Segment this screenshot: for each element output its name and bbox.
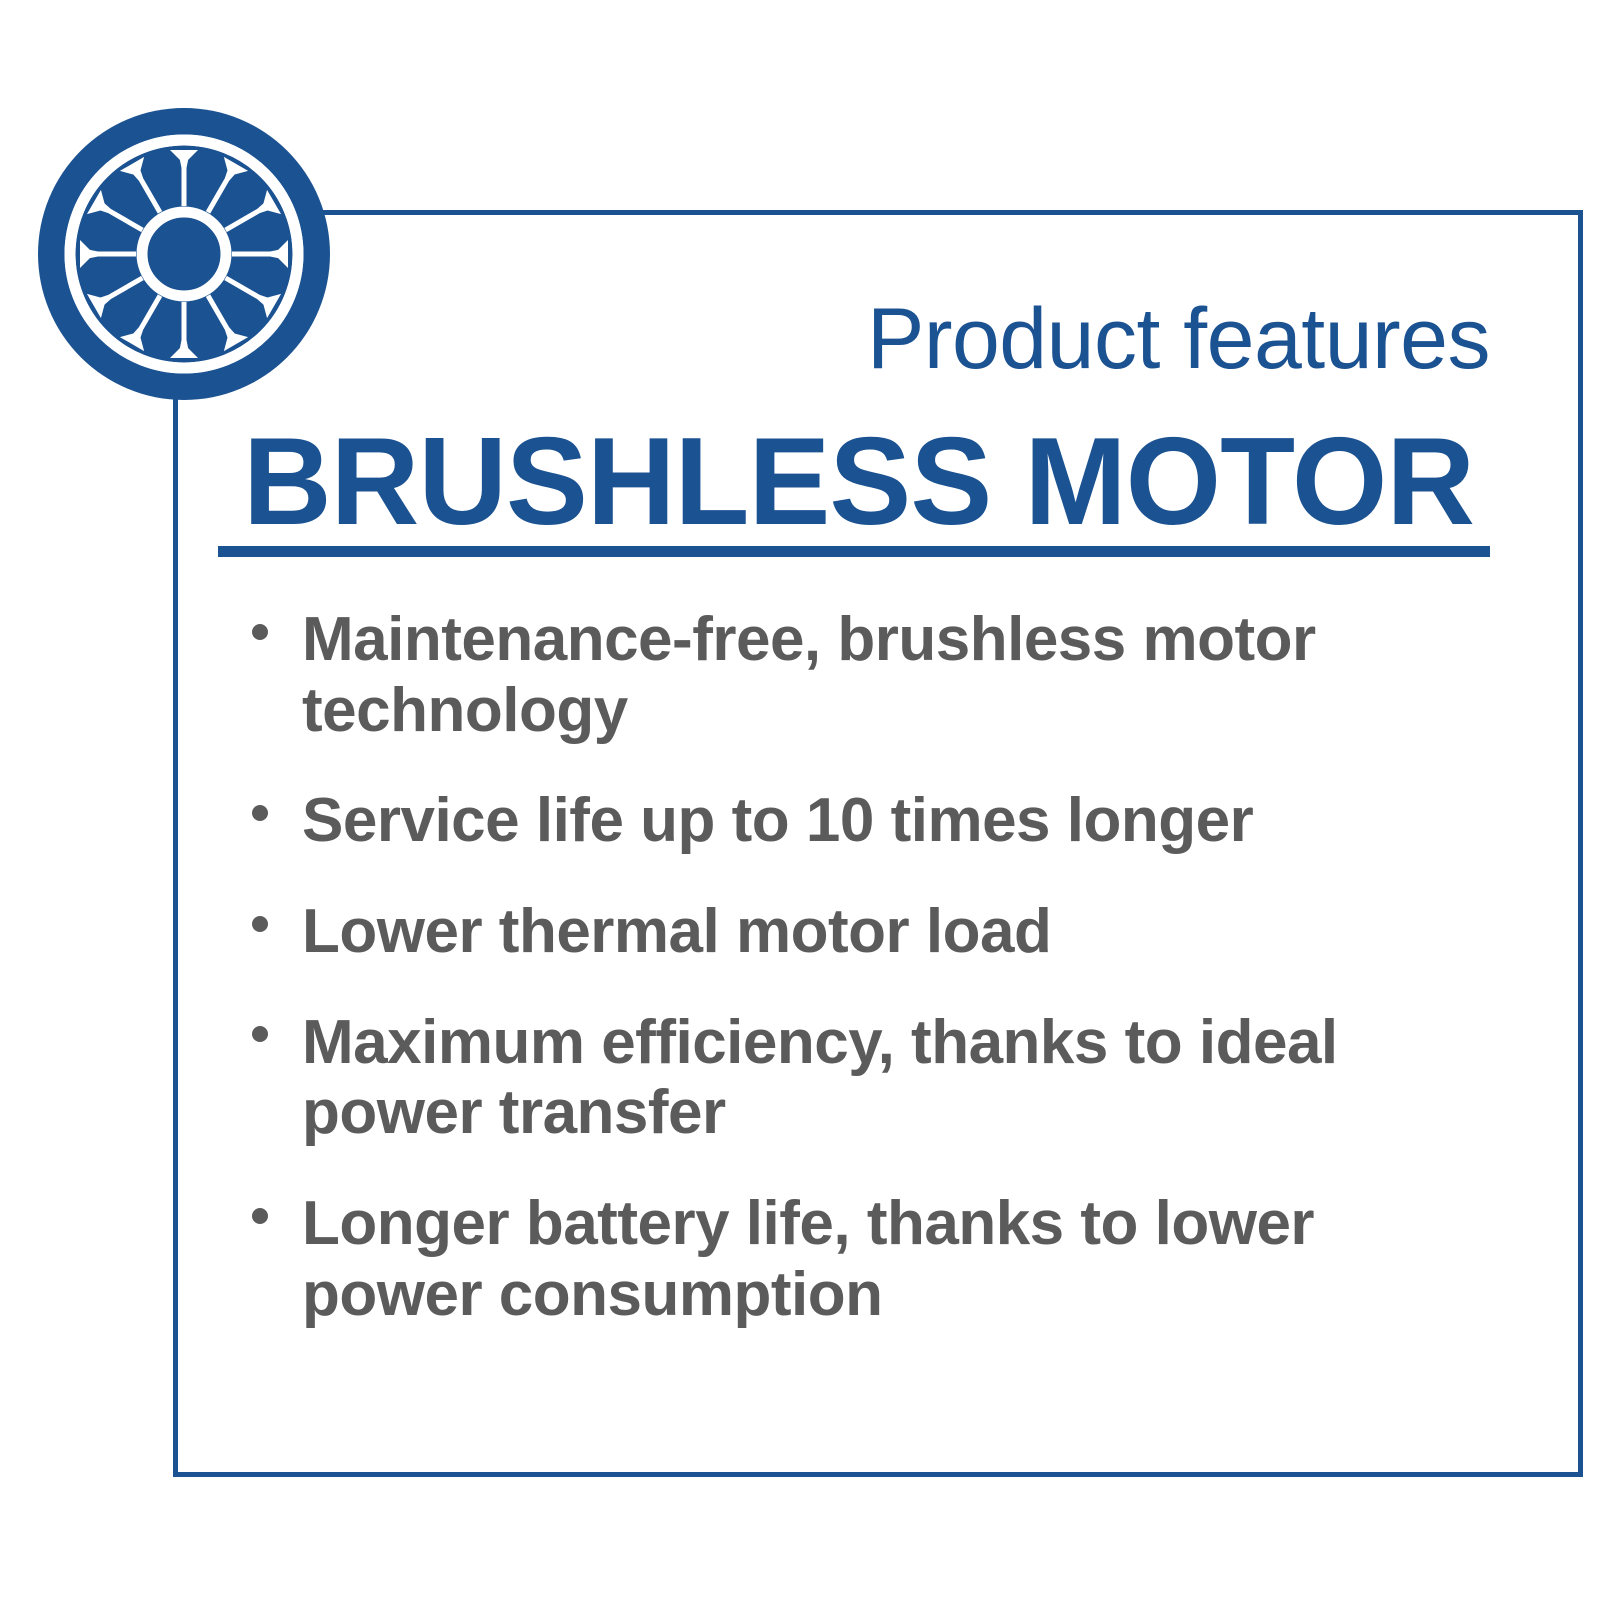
list-item: Service life up to 10 times longer bbox=[250, 786, 1465, 857]
list-item: Lower thermal motor load bbox=[250, 897, 1465, 968]
bullet-icon bbox=[252, 805, 268, 821]
list-item: Maximum efficiency, thanks to ideal powe… bbox=[250, 1008, 1465, 1149]
bullet-icon bbox=[252, 1208, 268, 1224]
feature-list: Maintenance-free, brushless motor techno… bbox=[250, 605, 1465, 1330]
title-divider bbox=[218, 546, 1490, 557]
list-item-label: Maintenance-free, brushless motor techno… bbox=[302, 605, 1316, 745]
list-item-label: Maximum efficiency, thanks to ideal powe… bbox=[302, 1008, 1338, 1148]
list-item-label: Lower thermal motor load bbox=[302, 897, 1051, 966]
bullet-icon bbox=[252, 1026, 268, 1042]
brushless-motor-rotor-icon bbox=[36, 106, 332, 402]
list-item-label: Longer battery life, thanks to lower pow… bbox=[302, 1189, 1314, 1329]
bullet-icon bbox=[252, 624, 268, 640]
product-feature-card: Product features BRUSHLESS MOTOR Mainten… bbox=[0, 0, 1600, 1600]
card-eyebrow: Product features bbox=[600, 296, 1490, 382]
list-item-label: Service life up to 10 times longer bbox=[302, 786, 1253, 855]
bullet-icon bbox=[252, 916, 268, 932]
list-item: Longer battery life, thanks to lower pow… bbox=[250, 1189, 1465, 1330]
page-title: BRUSHLESS MOTOR bbox=[243, 420, 1481, 544]
list-item: Maintenance-free, brushless motor techno… bbox=[250, 605, 1465, 746]
